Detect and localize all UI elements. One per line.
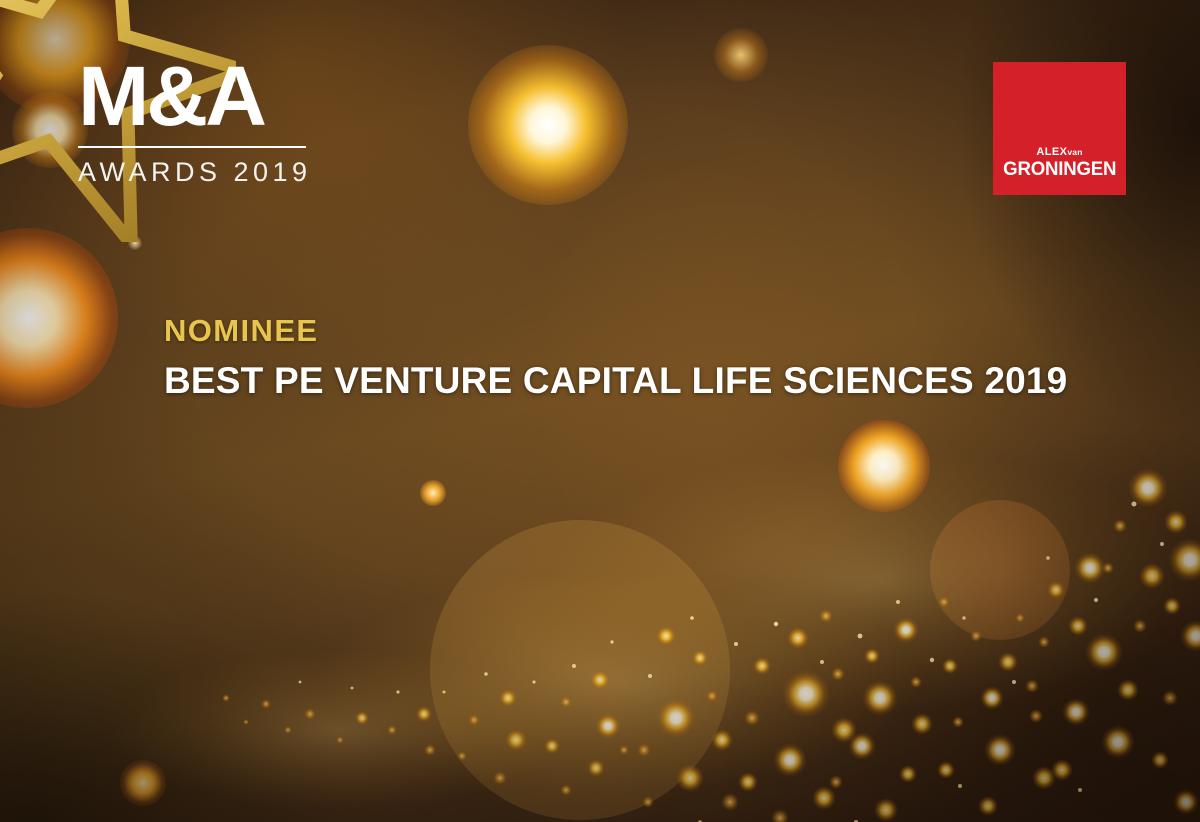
ma-logo-subtitle: AWARDS 2019 xyxy=(78,157,323,188)
ma-awards-logo: M&A AWARDS 2019 xyxy=(78,58,323,188)
award-kicker: NOMINEE xyxy=(164,315,1174,348)
ma-logo-divider xyxy=(78,146,306,148)
alex-van-groningen-logo: ALEXvan GRONINGEN xyxy=(993,62,1126,195)
award-text-block: NOMINEE BEST PE VENTURE CAPITAL LIFE SCI… xyxy=(164,315,1174,400)
sponsor-logo-van: van xyxy=(1067,147,1082,157)
sponsor-logo-groningen: GRONINGEN xyxy=(1003,160,1116,179)
sponsor-logo-alex: ALEX xyxy=(1036,146,1067,158)
award-banner: M&A AWARDS 2019 ALEXvan GRONINGEN NOMINE… xyxy=(0,0,1200,822)
ma-logo-mark: M&A xyxy=(78,58,328,135)
sponsor-logo-top-line: ALEXvan xyxy=(1036,147,1082,158)
award-title: BEST PE VENTURE CAPITAL LIFE SCIENCES 20… xyxy=(164,362,1174,401)
